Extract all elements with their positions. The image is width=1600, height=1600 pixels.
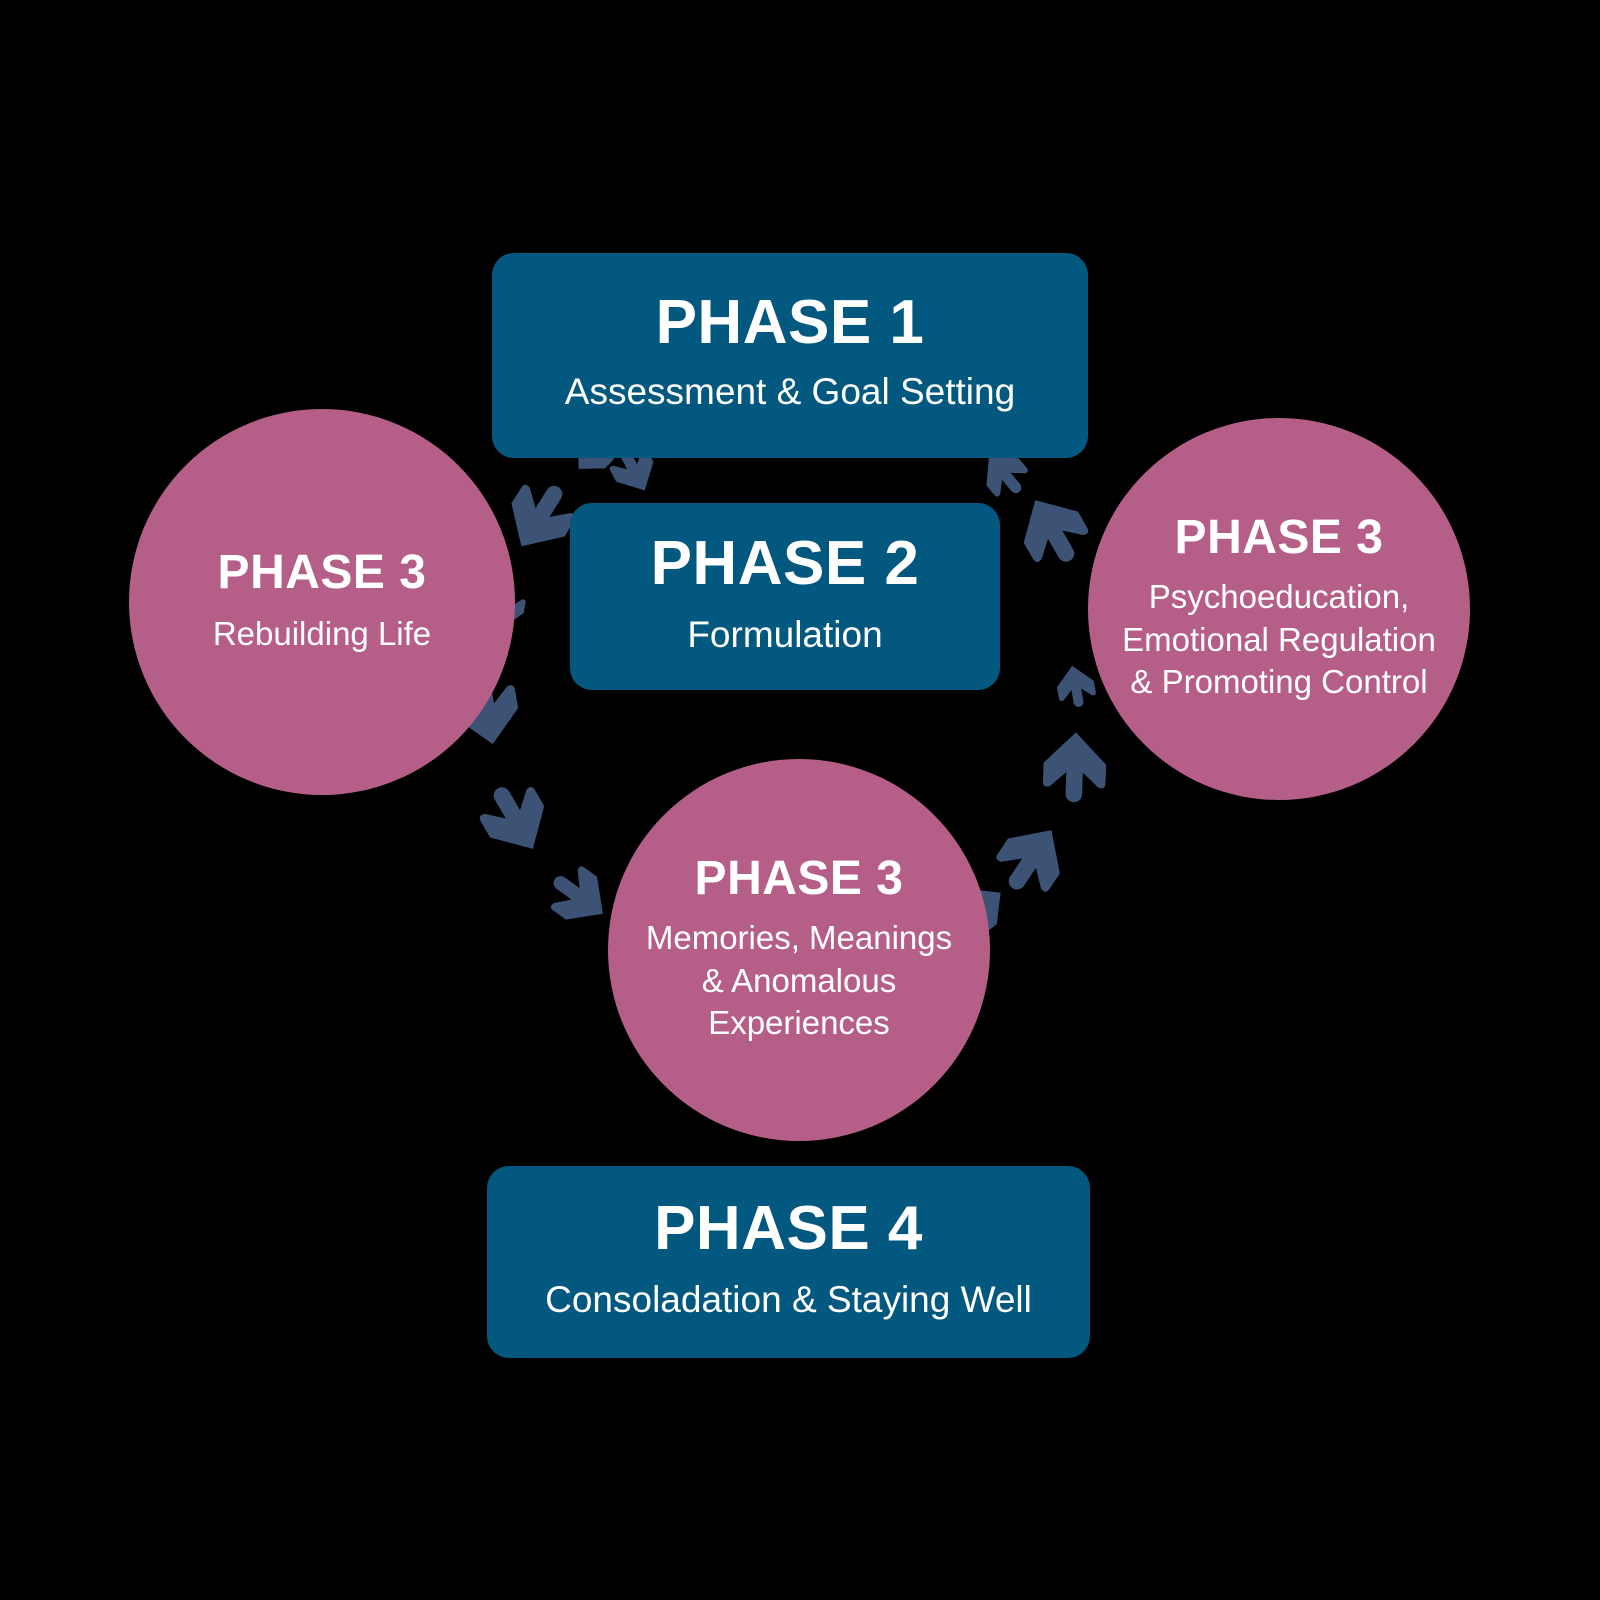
node-phase3-right[interactable]: PHASE 3 Psychoeducation, Emotional Regul… — [1088, 418, 1470, 800]
phase3-bottom-subtitle-line1: Memories, Meanings — [646, 917, 952, 960]
phase2-title: PHASE 2 — [651, 533, 920, 595]
arrow-segment-5 — [1042, 731, 1107, 803]
phase3-bottom-subtitle: Memories, Meanings & Anomalous Experienc… — [646, 917, 952, 1046]
arrow-segment-6 — [986, 813, 1077, 906]
phase3-right-subtitle-line3: & Promoting Control — [1122, 661, 1436, 704]
phase3-bottom-subtitle-line2: & Anomalous — [646, 960, 952, 1003]
phase4-title: PHASE 4 — [654, 1198, 923, 1260]
phase3-right-title: PHASE 3 — [1175, 514, 1384, 562]
arrow-segment-8 — [539, 857, 618, 935]
phase3-bottom-title: PHASE 3 — [695, 855, 904, 903]
arrow-segment-3 — [1008, 484, 1097, 576]
arrow-segment-4 — [1054, 663, 1098, 711]
phase3-right-subtitle-line2: Emotional Regulation — [1122, 619, 1436, 662]
phase3-left-title: PHASE 3 — [218, 549, 427, 597]
phase3-bottom-subtitle-line3: Experiences — [646, 1002, 952, 1045]
phase3-left-subtitle: Rebuilding Life — [213, 613, 431, 656]
arrow-segment-9 — [471, 773, 560, 865]
node-phase3-left[interactable]: PHASE 3 Rebuilding Life — [129, 409, 515, 795]
phase4-subtitle: Consoladation & Staying Well — [545, 1278, 1032, 1322]
phase3-right-subtitle-line1: Psychoeducation, — [1122, 576, 1436, 619]
phase2-subtitle: Formulation — [687, 613, 882, 657]
node-phase2[interactable]: PHASE 2 Formulation — [570, 503, 1000, 690]
node-phase3-bottom[interactable]: PHASE 3 Memories, Meanings & Anomalous E… — [608, 759, 990, 1141]
phase1-subtitle: Assessment & Goal Setting — [565, 370, 1015, 414]
phase3-right-subtitle: Psychoeducation, Emotional Regulation & … — [1122, 576, 1436, 705]
node-phase1[interactable]: PHASE 1 Assessment & Goal Setting — [492, 253, 1088, 458]
diagram-canvas: PHASE 1 Assessment & Goal Setting PHASE … — [0, 0, 1600, 1600]
node-phase4[interactable]: PHASE 4 Consoladation & Staying Well — [487, 1166, 1090, 1358]
phase1-title: PHASE 1 — [656, 292, 925, 354]
